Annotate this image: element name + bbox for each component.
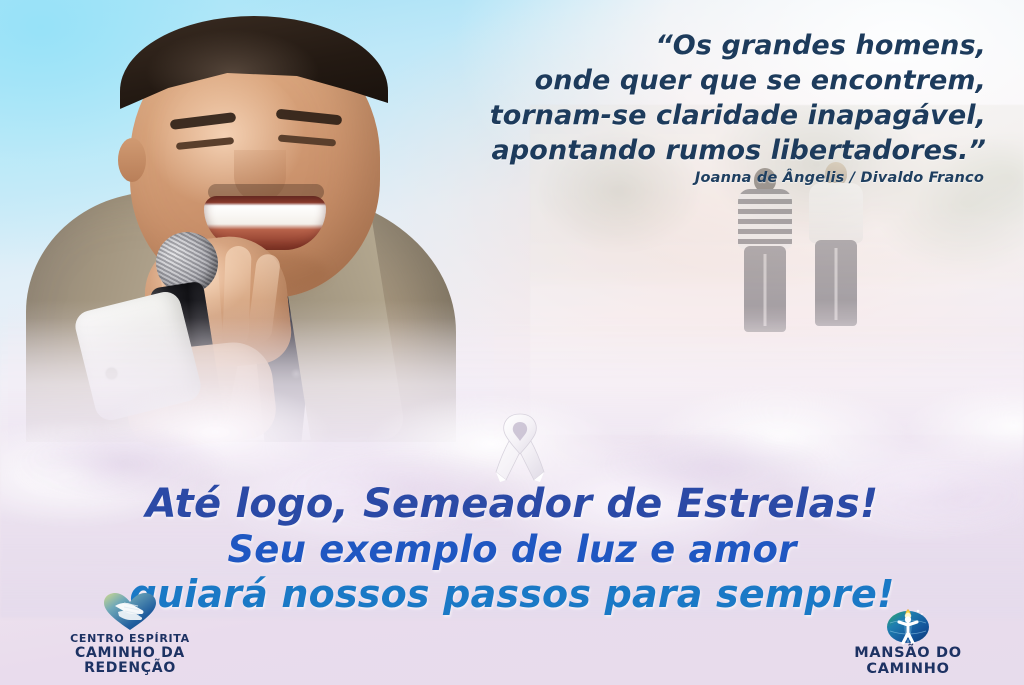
globe-with-figure-and-flame-icon: [884, 603, 932, 645]
white-awareness-ribbon-icon: [484, 410, 556, 490]
logo-left-line-1: CENTRO ESPÍRITA: [32, 633, 228, 645]
background-figure-striped-shirt: [735, 168, 795, 336]
figure-torso: [738, 189, 792, 249]
globe-with-figure-and-flame-icon-svg: [884, 603, 932, 645]
heart-with-hands-icon-svg: [102, 592, 158, 632]
quote-line-2: onde quer que se encontrem,: [426, 63, 986, 98]
logo-centro-espirita-caminho-da-redencao: CENTRO ESPÍRITA CAMINHO DA REDENÇÃO: [32, 591, 228, 677]
headline-line-2: Seu exemplo de luz e amor: [0, 531, 1024, 568]
logo-left-text: CENTRO ESPÍRITA CAMINHO DA REDENÇÃO: [32, 633, 228, 677]
logo-right-text: MANSÃO DO CAMINHO: [810, 645, 1006, 677]
logo-right-line-1: MANSÃO DO CAMINHO: [810, 645, 1006, 677]
logo-left-line-2: CAMINHO DA REDENÇÃO: [32, 646, 228, 677]
figure-legs: [815, 240, 857, 326]
quote-line-4: apontando rumos libertadores.”: [426, 133, 986, 168]
ear: [118, 138, 146, 182]
memorial-tribute-poster: “Os grandes homens, onde quer que se enc…: [0, 0, 1024, 685]
quote-line-3: tornam-se claridade inapagável,: [426, 98, 986, 133]
heart-with-hands-icon: [102, 591, 158, 633]
logo-mansao-do-caminho: MANSÃO DO CAMINHO: [810, 603, 1006, 677]
white-awareness-ribbon: [484, 410, 556, 490]
quote-author: Joanna de Ângelis / Divaldo Franco: [424, 170, 984, 186]
quote-text: “Os grandes homens, onde quer que se enc…: [426, 28, 986, 168]
headline-line-1: Até logo, Semeador de Estrelas!: [0, 484, 1024, 524]
figure-torso: [809, 183, 863, 243]
quote-line-1: “Os grandes homens,: [426, 28, 986, 63]
background-figure-white-shirt: [805, 162, 867, 334]
